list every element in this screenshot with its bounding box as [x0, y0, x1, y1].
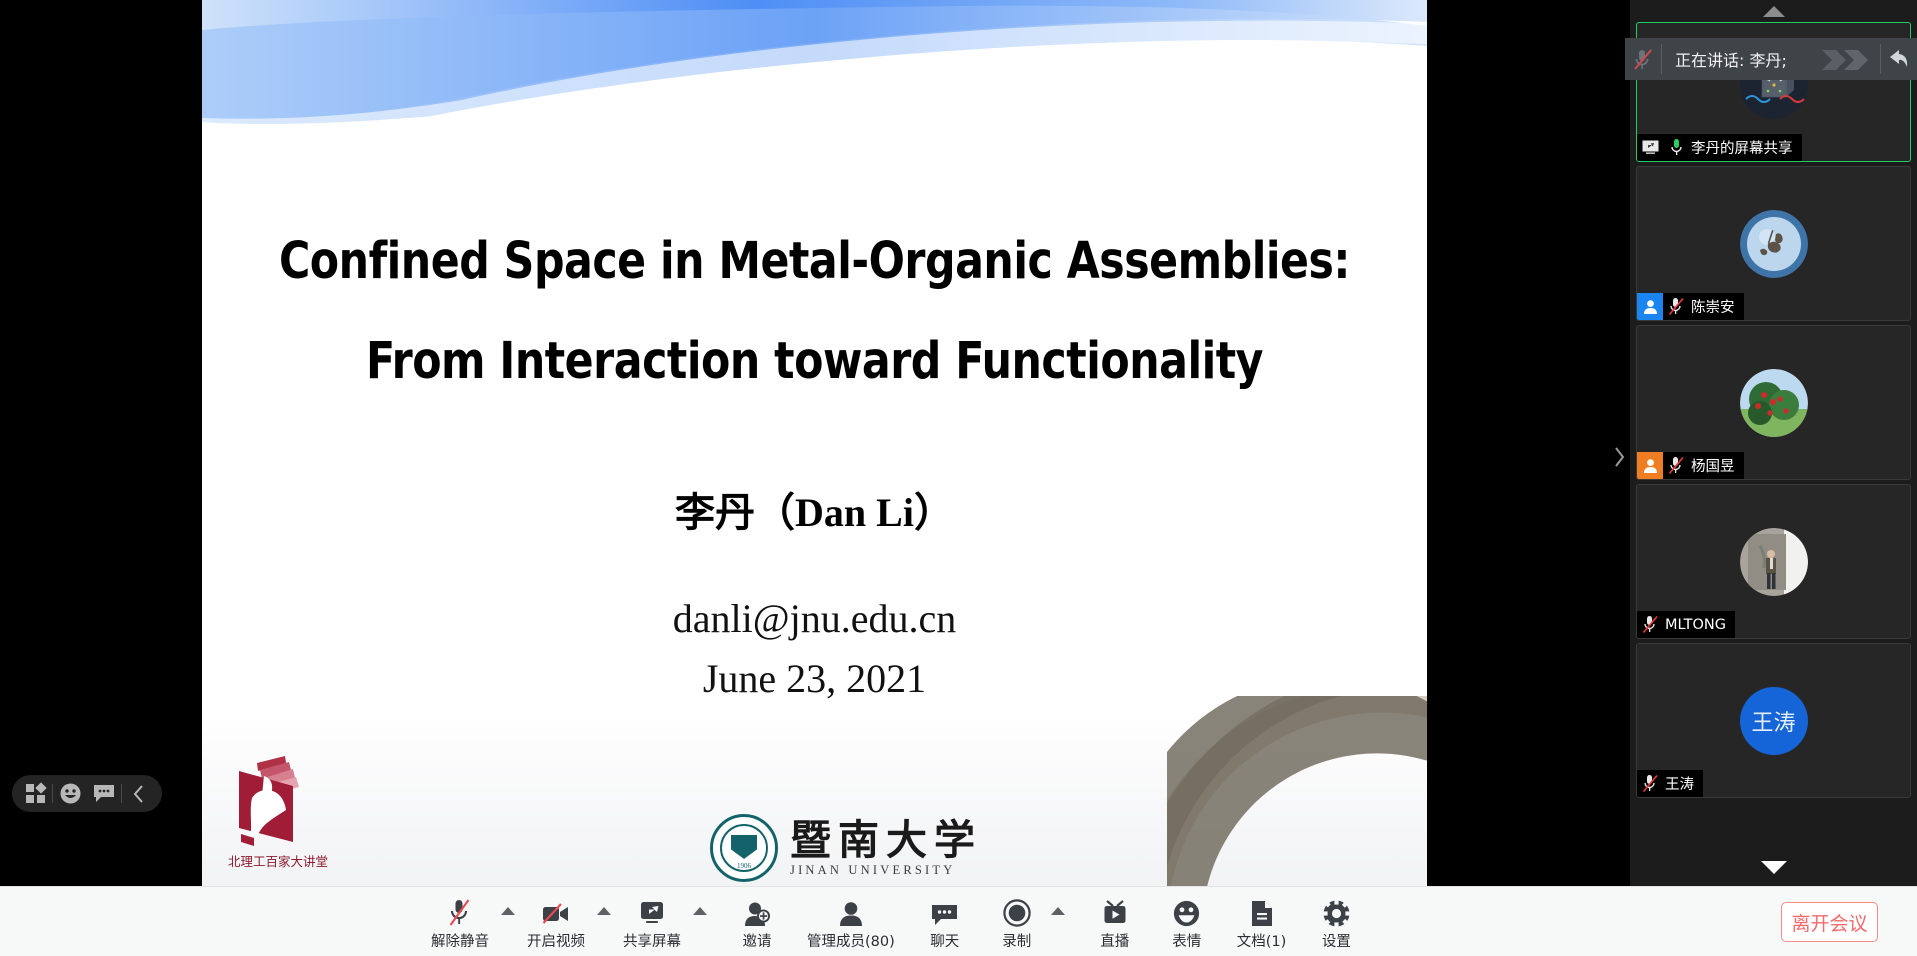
shared-screen-stage[interactable]: Confined Space in Metal-Organic Assembli…	[0, 0, 1630, 886]
participants-scroll-down[interactable]	[1630, 856, 1917, 878]
record-circle-icon	[1003, 896, 1031, 927]
slide-title-line-1: Confined Space in Metal-Organic Assembli…	[245, 232, 1384, 291]
participant-tile[interactable]: 杨国昱	[1636, 325, 1911, 480]
toolbar-label: 设置	[1322, 930, 1351, 951]
mic-muted-icon	[1663, 456, 1690, 475]
flower-photo-avatar	[1740, 369, 1808, 437]
share-screen-icon	[1637, 134, 1663, 161]
participant-tile[interactable]: MLTONG	[1636, 484, 1911, 639]
video-options-caret[interactable]	[591, 887, 617, 956]
participant-nameplate: 陈崇安	[1637, 293, 1744, 320]
toolbar-items: 解除静音 开启视频	[425, 887, 1364, 956]
active-speaker-label: 正在讲话: 李丹;	[1662, 47, 1818, 71]
mic-muted-icon	[1637, 615, 1664, 634]
slide-arc-decoration	[1167, 696, 1427, 886]
microphone-muted-icon	[1625, 48, 1661, 71]
participant-name: 陈崇安	[1690, 296, 1744, 317]
back-arrow-icon[interactable]	[1881, 49, 1917, 69]
slide-email: danli@jnu.edu.cn	[202, 595, 1427, 642]
university-name-cn: 暨南大学	[790, 820, 982, 862]
leave-meeting-button[interactable]: 离开会议	[1781, 902, 1878, 942]
triangle-up-icon	[1763, 6, 1785, 17]
emoji-smile-icon	[1173, 896, 1200, 927]
manage-participants-icon	[839, 896, 863, 927]
gear-icon	[1323, 896, 1350, 927]
manage-participants-button[interactable]: 管理成员(80)	[801, 887, 901, 956]
participant-name: MLTONG	[1664, 617, 1735, 633]
lecture-series-caption: 北理工百家大讲堂	[223, 851, 333, 870]
toolbar-label: 开启视频	[527, 930, 585, 951]
university-logo: 1906 暨南大学 JINAN UNIVERSITY	[710, 814, 982, 882]
caret-up-icon	[597, 907, 611, 915]
microphone-muted-icon	[448, 896, 472, 927]
slide-author: 李丹（Dan Li）	[202, 480, 1427, 538]
mic-active-icon	[1663, 138, 1690, 157]
participant-nameplate: 王涛	[1637, 770, 1703, 797]
mic-muted-icon	[1663, 297, 1690, 316]
toolbar-label: 表情	[1172, 930, 1201, 951]
share-screen-icon	[638, 896, 666, 927]
video-off-icon	[541, 896, 571, 927]
lecture-series-logo: 北理工百家大讲堂	[223, 754, 333, 870]
unmute-button[interactable]: 解除静音	[425, 887, 495, 956]
person-icon	[1637, 293, 1663, 320]
toolbar-label: 录制	[1002, 930, 1031, 951]
participant-nameplate: 杨国昱	[1637, 452, 1744, 479]
invite-person-icon	[744, 896, 771, 927]
toolbar-label: 直播	[1100, 930, 1129, 951]
university-seal-icon: 1906	[710, 814, 778, 882]
participant-tile[interactable]: 王涛 王涛	[1636, 643, 1911, 798]
participants-scroll-up[interactable]	[1630, 0, 1917, 22]
person-photo-avatar	[1740, 528, 1808, 596]
mic-muted-icon	[1637, 774, 1664, 793]
active-speaker-banner: 正在讲话: 李丹;	[1625, 38, 1917, 80]
participant-tile[interactable]: 陈崇安	[1636, 166, 1911, 321]
floating-mini-toolbar[interactable]	[12, 775, 162, 812]
live-broadcast-button[interactable]: 直播	[1087, 887, 1143, 956]
document-icon	[1251, 896, 1273, 927]
audio-options-caret[interactable]	[495, 887, 521, 956]
toolbar-label: 邀请	[743, 930, 772, 951]
participant-tiles-list: 李丹的屏幕共享	[1630, 22, 1917, 864]
meeting-toolbar: 解除静音 开启视频	[0, 886, 1917, 956]
chat-bubble-icon	[931, 896, 958, 927]
settings-button[interactable]: 设置	[1308, 887, 1364, 956]
participant-nameplate: 李丹的屏幕共享	[1637, 134, 1802, 161]
start-video-button[interactable]: 开启视频	[521, 887, 591, 956]
share-options-caret[interactable]	[687, 887, 713, 956]
share-screen-button[interactable]: 共享屏幕	[617, 887, 687, 956]
apps-grid-icon[interactable]	[18, 777, 52, 811]
toolbar-label: 聊天	[930, 930, 959, 951]
participants-panel: 李丹的屏幕共享	[1630, 0, 1917, 886]
bubble-photo-avatar	[1740, 210, 1808, 278]
documents-button[interactable]: 文档(1)	[1231, 887, 1293, 956]
participant-nameplate: MLTONG	[1637, 611, 1735, 638]
slide-title-line-2: From Interaction toward Functionality	[245, 332, 1384, 391]
slide-swoosh-decoration	[202, 0, 1427, 125]
emoji-button[interactable]: 表情	[1159, 887, 1215, 956]
toolbar-label: 管理成员(80)	[807, 930, 895, 951]
participant-name: 杨国昱	[1690, 455, 1744, 476]
chat-bubble-icon[interactable]	[87, 777, 121, 811]
double-chevron-icon[interactable]	[1818, 47, 1876, 71]
triangle-down-icon	[1761, 861, 1787, 874]
university-seal-year: 1906	[713, 862, 775, 870]
dove-book-icon	[223, 754, 313, 850]
presentation-slide: Confined Space in Metal-Organic Assembli…	[202, 0, 1427, 886]
university-name-en: JINAN UNIVERSITY	[790, 863, 982, 878]
participant-name: 王涛	[1664, 773, 1703, 794]
record-options-caret[interactable]	[1045, 887, 1071, 956]
meeting-window: Confined Space in Metal-Organic Assembli…	[0, 0, 1917, 956]
participant-name: 李丹的屏幕共享	[1690, 137, 1802, 158]
panel-collapse-toggle[interactable]	[1608, 440, 1630, 474]
chevron-left-icon[interactable]	[122, 777, 156, 811]
caret-up-icon	[1051, 907, 1065, 915]
caret-up-icon	[693, 907, 707, 915]
toolbar-label: 文档(1)	[1237, 930, 1287, 951]
toolbar-label: 共享屏幕	[623, 930, 681, 951]
chat-button[interactable]: 聊天	[917, 887, 973, 956]
record-button[interactable]: 录制	[989, 887, 1045, 956]
live-broadcast-icon	[1102, 896, 1128, 927]
caret-up-icon	[501, 907, 515, 915]
chevron-right-icon	[1614, 447, 1625, 467]
initials-avatar: 王涛	[1740, 687, 1808, 755]
person-icon	[1637, 452, 1663, 479]
toolbar-label: 解除静音	[431, 930, 489, 951]
avatar-initials: 王涛	[1751, 705, 1795, 737]
invite-button[interactable]: 邀请	[729, 887, 785, 956]
emoji-smile-icon[interactable]	[53, 777, 87, 811]
slide-date: June 23, 2021	[202, 655, 1427, 702]
